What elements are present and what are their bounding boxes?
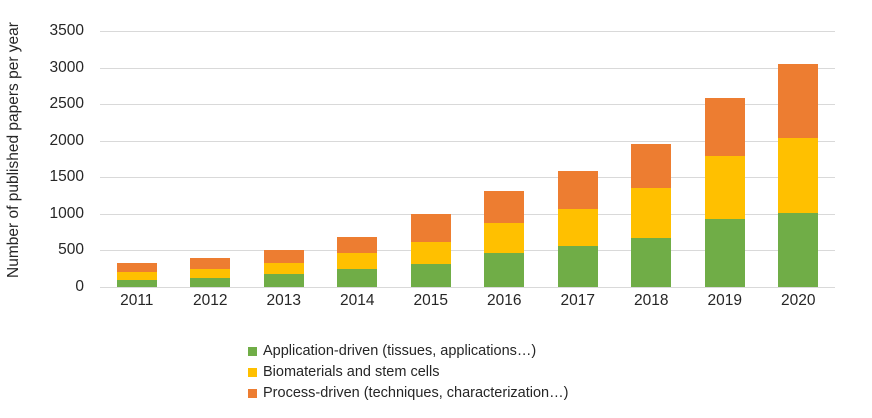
bar-segment[interactable]	[558, 246, 598, 287]
bar-segment[interactable]	[631, 238, 671, 287]
x-tick-label: 2018	[614, 292, 688, 310]
legend-item[interactable]: Process-driven (techniques, characteriza…	[248, 383, 668, 403]
bar-group[interactable]	[778, 31, 818, 287]
bar-group[interactable]	[484, 31, 524, 287]
bar-segment[interactable]	[558, 209, 598, 246]
legend-swatch-icon	[248, 389, 257, 398]
legend-item[interactable]: Biomaterials and stem cells	[248, 362, 668, 382]
x-axis-tick-labels: 2011201220132014201520162017201820192020	[100, 292, 835, 318]
bar-group[interactable]	[117, 31, 157, 287]
bar-segment[interactable]	[117, 280, 157, 287]
legend-item-label: Application-driven (tissues, application…	[263, 343, 536, 359]
bar-segment[interactable]	[484, 223, 524, 253]
y-tick-label: 3500	[50, 22, 84, 40]
x-tick-label: 2011	[100, 292, 174, 310]
x-tick-label: 2016	[467, 292, 541, 310]
y-tick-label: 3000	[50, 59, 84, 77]
y-tick-label: 500	[58, 241, 84, 259]
bar-group[interactable]	[337, 31, 377, 287]
gridline	[100, 287, 835, 288]
bar-segment[interactable]	[190, 258, 230, 269]
y-tick-label: 2500	[50, 95, 84, 113]
bar-segment[interactable]	[778, 64, 818, 138]
bar-group[interactable]	[705, 31, 745, 287]
bar-group[interactable]	[190, 31, 230, 287]
bar-segment[interactable]	[264, 250, 304, 263]
legend: Application-driven (tissues, application…	[248, 341, 668, 404]
x-tick-label: 2012	[173, 292, 247, 310]
legend-item[interactable]: Application-driven (tissues, application…	[248, 341, 668, 361]
bar-segment[interactable]	[705, 156, 745, 219]
bar-segment[interactable]	[411, 242, 451, 264]
y-tick-label: 0	[75, 278, 84, 296]
bar-segment[interactable]	[631, 144, 671, 188]
legend-swatch-icon	[248, 347, 257, 356]
bar-segment[interactable]	[337, 253, 377, 269]
legend-swatch-icon	[248, 368, 257, 377]
bar-segment[interactable]	[190, 269, 230, 278]
bar-segment[interactable]	[190, 278, 230, 288]
bar-segment[interactable]	[411, 264, 451, 287]
bar-segment[interactable]	[631, 188, 671, 237]
y-axis-tick-labels: 0500100015002000250030003500	[28, 0, 92, 418]
x-tick-label: 2013	[247, 292, 321, 310]
bar-segment[interactable]	[705, 219, 745, 287]
bar-segment[interactable]	[411, 214, 451, 242]
bar-segment[interactable]	[778, 213, 818, 287]
y-axis-title-label: Number of published papers per year	[5, 22, 23, 278]
legend-item-label: Process-driven (techniques, characteriza…	[263, 385, 568, 401]
bar-segment[interactable]	[484, 253, 524, 287]
bar-segment[interactable]	[558, 171, 598, 209]
y-axis-title: Number of published papers per year	[0, 0, 28, 300]
bar-group[interactable]	[631, 31, 671, 287]
bar-segment[interactable]	[117, 263, 157, 272]
bar-segment[interactable]	[264, 274, 304, 287]
x-tick-label: 2020	[761, 292, 835, 310]
y-tick-label: 2000	[50, 132, 84, 150]
bar-segment[interactable]	[337, 269, 377, 287]
bar-segment[interactable]	[778, 138, 818, 213]
bar-segment[interactable]	[484, 191, 524, 223]
stacked-bar-chart: Number of published papers per year 0500…	[0, 0, 872, 418]
bar-group[interactable]	[411, 31, 451, 287]
x-tick-label: 2017	[541, 292, 615, 310]
legend-item-label: Biomaterials and stem cells	[263, 364, 440, 380]
bar-group[interactable]	[264, 31, 304, 287]
bar-segment[interactable]	[264, 263, 304, 274]
x-tick-label: 2019	[688, 292, 762, 310]
x-tick-label: 2014	[320, 292, 394, 310]
bar-segment[interactable]	[117, 272, 157, 280]
y-tick-label: 1000	[50, 205, 84, 223]
bar-group[interactable]	[558, 31, 598, 287]
bar-segment[interactable]	[705, 98, 745, 157]
x-tick-label: 2015	[394, 292, 468, 310]
plot-area	[100, 31, 835, 287]
y-tick-label: 1500	[50, 168, 84, 186]
bar-segment[interactable]	[337, 237, 377, 253]
